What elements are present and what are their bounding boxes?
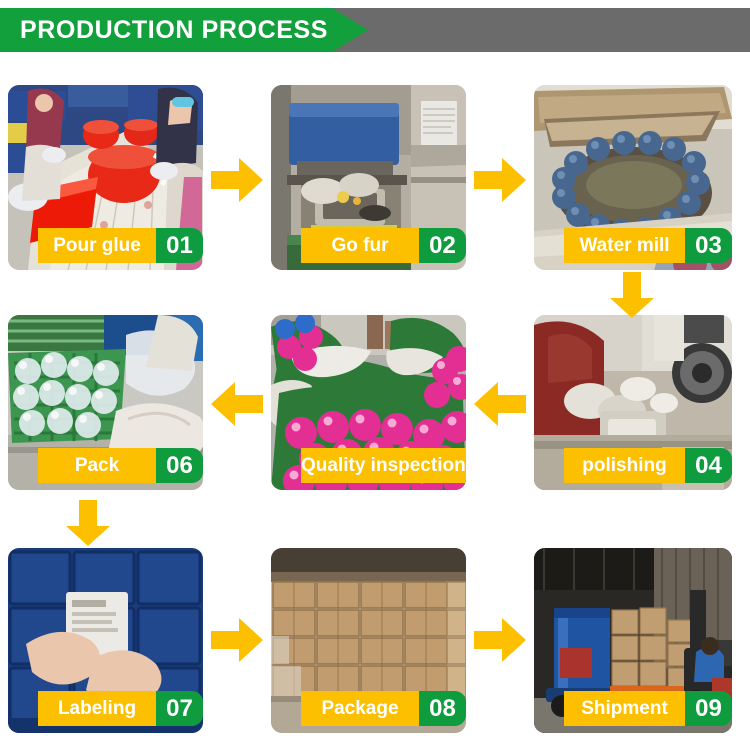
step-label-text-04: polishing xyxy=(564,448,685,483)
step-card-04[interactable]: polishing 04 xyxy=(534,315,732,490)
step-card-01[interactable]: Pour glue 01 xyxy=(8,85,203,270)
process-grid: Pour glue 01 xyxy=(0,0,750,755)
arrow-step1-to-step2 xyxy=(211,158,263,202)
step-card-08[interactable]: Package 08 xyxy=(271,548,466,733)
step-card-02[interactable]: Go fur 02 xyxy=(271,85,466,270)
step-label-03: Water mill 03 xyxy=(564,228,732,263)
step-label-04: polishing 04 xyxy=(564,448,732,483)
arrow-step6-to-step7 xyxy=(66,500,110,546)
step-label-07: Labeling 07 xyxy=(38,691,203,726)
step-card-06[interactable]: Pack 06 xyxy=(8,315,203,490)
step-label-text-06: Pack xyxy=(38,448,156,483)
step-number-08: 08 xyxy=(419,691,466,726)
step-label-text-08: Package xyxy=(301,691,419,726)
step-label-05: Quality inspection 05 xyxy=(301,448,466,483)
step-label-text-05: Quality inspection xyxy=(301,448,466,483)
step-number-03: 03 xyxy=(685,228,732,263)
step-card-07[interactable]: Labeling 07 xyxy=(8,548,203,733)
step-label-08: Package 08 xyxy=(301,691,466,726)
step-number-02: 02 xyxy=(419,228,466,263)
step-label-text-07: Labeling xyxy=(38,691,156,726)
step-label-text-09: Shipment xyxy=(564,691,685,726)
step-label-02: Go fur 02 xyxy=(301,228,466,263)
step-card-05[interactable]: Quality inspection 05 xyxy=(271,315,466,490)
step-number-04: 04 xyxy=(685,448,732,483)
arrow-step3-to-step4 xyxy=(610,272,654,318)
step-number-01: 01 xyxy=(156,228,203,263)
step-label-06: Pack 06 xyxy=(38,448,203,483)
step-label-text-01: Pour glue xyxy=(38,228,156,263)
step-label-01: Pour glue 01 xyxy=(38,228,203,263)
arrow-step8-to-step9 xyxy=(474,618,526,662)
step-label-09: Shipment 09 xyxy=(564,691,732,726)
arrow-step5-to-step6 xyxy=(211,382,263,426)
step-card-03[interactable]: Water mill 03 xyxy=(534,85,732,270)
step-number-09: 09 xyxy=(685,691,732,726)
arrow-step4-to-step5 xyxy=(474,382,526,426)
arrow-step2-to-step3 xyxy=(474,158,526,202)
page-title: PRODUCTION PROCESS xyxy=(20,8,328,52)
step-card-09[interactable]: Shipment 09 xyxy=(534,548,732,733)
step-number-07: 07 xyxy=(156,691,203,726)
step-number-06: 06 xyxy=(156,448,203,483)
step-label-text-03: Water mill xyxy=(564,228,685,263)
arrow-step7-to-step8 xyxy=(211,618,263,662)
step-label-text-02: Go fur xyxy=(301,228,419,263)
